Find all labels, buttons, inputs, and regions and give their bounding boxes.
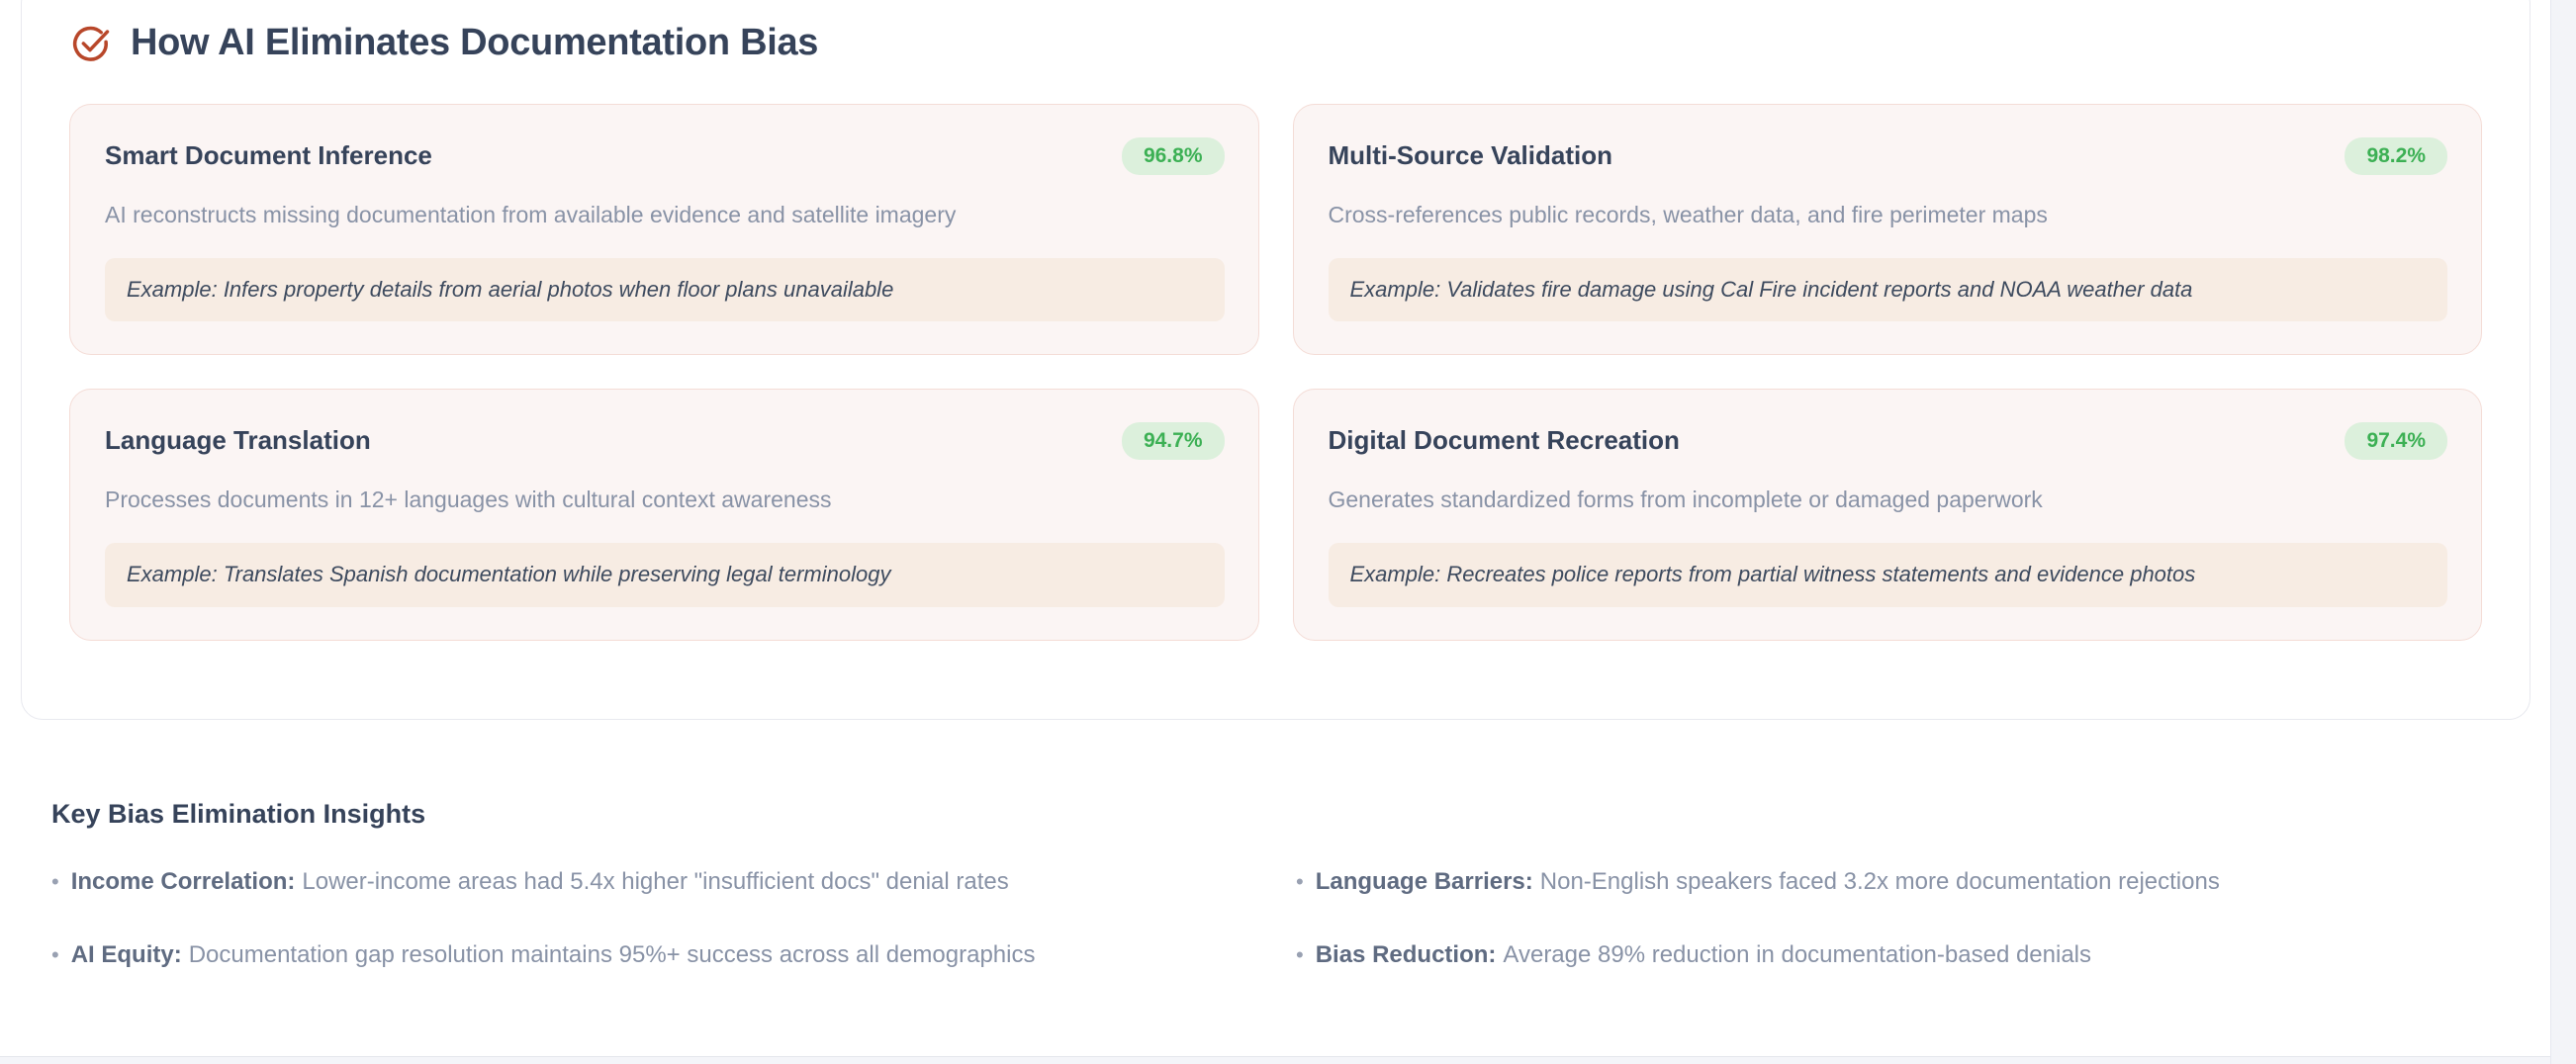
insight-text: Average 89% reduction in documentation-b… (1503, 941, 2091, 968)
bullet-icon: • (51, 871, 59, 893)
key-insights-section: Key Bias Elimination Insights • Income C… (51, 799, 2505, 970)
insight-item-language-barriers: • Language Barriers:Non-English speakers… (1296, 867, 2505, 897)
card-description: Processes documents in 12+ languages wit… (105, 486, 1225, 515)
insight-item-ai-equity: • AI Equity:Documentation gap resolution… (51, 940, 1260, 970)
card-title: Digital Document Recreation (1329, 422, 1680, 455)
feature-card-smart-document-inference[interactable]: Smart Document Inference 96.8% AI recons… (69, 104, 1259, 355)
card-title: Multi-Source Validation (1329, 137, 1612, 170)
insight-item-income-correlation: • Income Correlation:Lower-income areas … (51, 867, 1260, 897)
insight-text: Documentation gap resolution maintains 9… (189, 941, 1036, 968)
insight-label: AI Equity: (71, 941, 182, 968)
card-header: Language Translation 94.7% (105, 422, 1225, 460)
insight-item-bias-reduction: • Bias Reduction:Average 89% reduction i… (1296, 940, 2505, 970)
card-example: Example: Infers property details from ae… (105, 258, 1225, 322)
insight-label: Language Barriers: (1316, 868, 1533, 895)
bullet-icon: • (51, 944, 59, 966)
bullet-icon: • (1296, 871, 1304, 893)
documentation-bias-panel: How AI Eliminates Documentation Bias Sma… (21, 0, 2530, 720)
feature-card-language-translation[interactable]: Language Translation 94.7% Processes doc… (69, 389, 1259, 640)
card-description: Generates standardized forms from incomp… (1329, 486, 2448, 515)
insight-label: Income Correlation: (71, 868, 296, 895)
check-circle-icon (69, 24, 111, 65)
feature-card-multi-source-validation[interactable]: Multi-Source Validation 98.2% Cross-refe… (1293, 104, 2483, 355)
accuracy-badge: 94.7% (1122, 422, 1225, 460)
accuracy-badge: 97.4% (2345, 422, 2447, 460)
card-example: Example: Recreates police reports from p… (1329, 543, 2448, 607)
insights-grid: • Income Correlation:Lower-income areas … (51, 867, 2505, 970)
insight-label: Bias Reduction: (1316, 941, 1497, 968)
card-header: Smart Document Inference 96.8% (105, 137, 1225, 175)
card-description: AI reconstructs missing documentation fr… (105, 201, 1225, 230)
accuracy-badge: 98.2% (2345, 137, 2447, 175)
feature-card-digital-document-recreation[interactable]: Digital Document Recreation 97.4% Genera… (1293, 389, 2483, 640)
accuracy-badge: 96.8% (1122, 137, 1225, 175)
card-example: Example: Translates Spanish documentatio… (105, 543, 1225, 607)
insights-title: Key Bias Elimination Insights (51, 799, 2505, 830)
bottom-strip (0, 1057, 2550, 1064)
page-title: How AI Eliminates Documentation Bias (131, 24, 818, 61)
card-header: Digital Document Recreation 97.4% (1329, 422, 2448, 460)
bullet-icon: • (1296, 944, 1304, 966)
insight-text: Lower-income areas had 5.4x higher "insu… (302, 868, 1008, 895)
card-header: Multi-Source Validation 98.2% (1329, 137, 2448, 175)
card-title: Language Translation (105, 422, 371, 455)
card-title: Smart Document Inference (105, 137, 432, 170)
screen: How AI Eliminates Documentation Bias Sma… (0, 0, 2576, 1064)
feature-card-grid: Smart Document Inference 96.8% AI recons… (22, 84, 2530, 684)
insight-text: Non-English speakers faced 3.2x more doc… (1540, 868, 2220, 895)
card-example: Example: Validates fire damage using Cal… (1329, 258, 2448, 322)
panel-header: How AI Eliminates Documentation Bias (22, 1, 2530, 84)
vertical-scrollbar[interactable] (2550, 0, 2576, 1064)
card-description: Cross-references public records, weather… (1329, 201, 2448, 230)
